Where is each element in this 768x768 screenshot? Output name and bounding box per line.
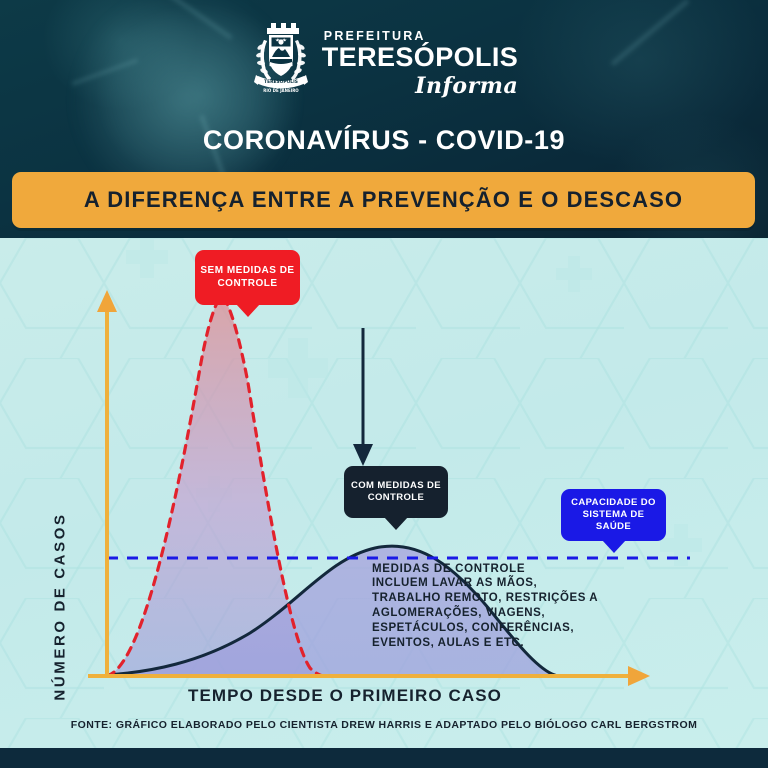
- logo-city-text: TERESÓPOLIS: [322, 44, 518, 71]
- callout-sem-medidas-line1: SEM MEDIDAS DE: [200, 265, 294, 278]
- subtitle-banner: A DIFERENÇA ENTRE A PREVENÇÃO E O DESCAS…: [12, 172, 755, 228]
- control-measures-text: MEDIDAS DE CONTROLE INCLUEM LAVAR AS MÃO…: [372, 563, 622, 651]
- page-title: CORONAVÍRUS - COVID-19: [0, 125, 768, 156]
- callout-capacidade-line2: SISTEMA DE: [571, 509, 656, 521]
- control-measures-line: TRABALHO REMOTO, RESTRIÇÕES A: [372, 591, 622, 606]
- callout-tail: [602, 540, 626, 553]
- coat-of-arms-icon: TERESOPOLIS RIO DE JANEIRO: [250, 18, 312, 98]
- svg-text:RIO DE JANEIRO: RIO DE JANEIRO: [263, 88, 299, 93]
- control-measures-title: MEDIDAS DE CONTROLE: [372, 563, 622, 575]
- callout-capacidade-line3: SAÚDE: [571, 521, 656, 533]
- logo-informa-text: Informa: [322, 75, 518, 97]
- infographic-page: TERESOPOLIS RIO DE JANEIRO PREFEITURA TE…: [0, 0, 768, 768]
- control-measures-line: AGLOMERAÇÕES, VIAGENS,: [372, 606, 622, 621]
- y-axis-arrow: [97, 290, 117, 312]
- callout-com-medidas-line1: COM MEDIDAS DE: [351, 480, 441, 492]
- callout-com-medidas-line2: CONTROLE: [351, 492, 441, 504]
- svg-text:TERESOPOLIS: TERESOPOLIS: [264, 79, 298, 85]
- logo-wordmark: PREFEITURA TERESÓPOLIS Informa: [322, 18, 518, 97]
- subtitle-banner-text: A DIFERENÇA ENTRE A PREVENÇÃO E O DESCAS…: [84, 187, 683, 213]
- control-measures-line: ESPETÁCULOS, CONFERÊNCIAS,: [372, 621, 622, 636]
- y-axis-label: NÚMERO DE CASOS: [52, 507, 69, 707]
- callout-capacidade-line1: CAPACIDADE DO: [571, 497, 656, 509]
- control-measures-line: INCLUEM LAVAR AS MÃOS,: [372, 576, 622, 591]
- prefeitura-logo: TERESOPOLIS RIO DE JANEIRO PREFEITURA TE…: [0, 18, 768, 98]
- callout-capacidade: CAPACIDADE DO SISTEMA DE SAÚDE: [561, 489, 666, 541]
- footer-bar: [0, 748, 768, 768]
- logo-prefeitura-text: PREFEITURA: [324, 30, 518, 43]
- x-axis-label: TEMPO DESDE O PRIMEIRO CASO: [0, 686, 690, 706]
- callout-sem-medidas-line2: CONTROLE: [200, 278, 294, 291]
- control-measures-body: INCLUEM LAVAR AS MÃOS, TRABALHO REMOTO, …: [372, 576, 622, 651]
- callout-com-medidas: COM MEDIDAS DE CONTROLE: [344, 466, 448, 518]
- callout-tail: [236, 304, 260, 317]
- measures-pointer-arrow: [353, 328, 373, 466]
- control-measures-line: EVENTOS, AULAS E ETC.: [372, 636, 622, 651]
- x-axis-arrow: [628, 666, 650, 686]
- source-credit: FONTE: GRÁFICO ELABORADO PELO CIENTISTA …: [0, 719, 768, 731]
- callout-tail: [384, 517, 408, 530]
- callout-sem-medidas: SEM MEDIDAS DE CONTROLE: [195, 250, 300, 305]
